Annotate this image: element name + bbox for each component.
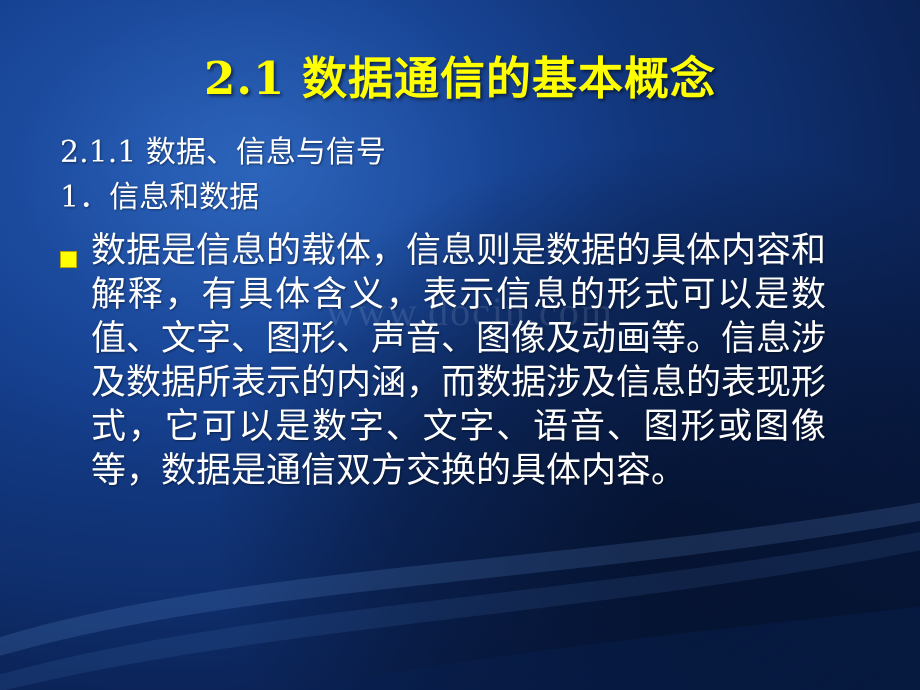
subheading-level-1: 2.1.1 数据、信息与信号 [60,132,880,173]
subheading-level-2: 1．信息和数据 [60,177,880,218]
square-bullet-icon [60,251,77,268]
bullet-item: 数据是信息的载体，信息则是数据的具体内容和解释，有具体含义，表示信息的形式可以是… [60,229,880,494]
presentation-slide: www.docin.com 2.1 数据通信的基本概念 2.1.1 数据、信息与… [0,0,920,690]
slide-title: 2.1 数据通信的基本概念 [0,42,920,107]
bullet-paragraph: 数据是信息的载体，信息则是数据的具体内容和解释，有具体含义，表示信息的形式可以是… [91,229,826,494]
slide-body: 2.1.1 数据、信息与信号 1．信息和数据 数据是信息的载体，信息则是数据的具… [60,132,880,493]
